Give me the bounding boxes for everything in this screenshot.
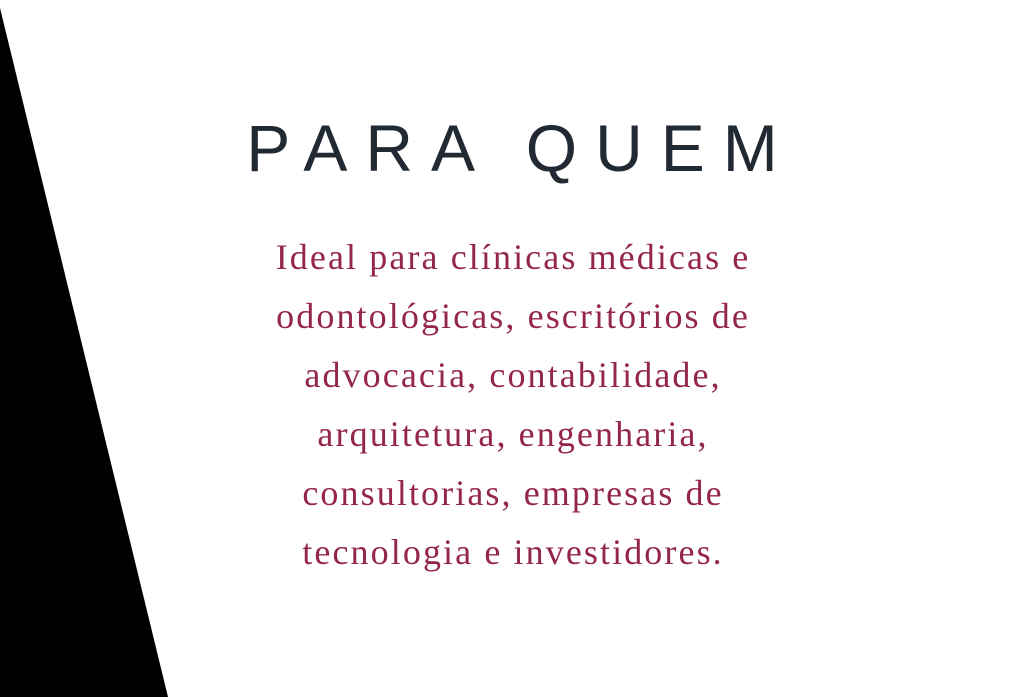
copy-line: odontológicas, escritórios de [162, 287, 862, 346]
copy-line: advocacia, contabilidade, [162, 346, 862, 405]
copy-line: arquitetura, engenharia, [162, 405, 862, 464]
copy-line: Ideal para clínicas médicas e [162, 228, 862, 287]
slide-canvas: PARA QUEM Ideal para clínicas médicas e … [0, 0, 1024, 697]
copy-line: tecnologia e investidores. [162, 523, 862, 582]
copy-line: consultorias, empresas de [162, 464, 862, 523]
body-copy: Ideal para clínicas médicas e odontológi… [162, 228, 862, 582]
content-column: PARA QUEM Ideal para clínicas médicas e … [0, 0, 1024, 697]
page-title: PARA QUEM [228, 113, 796, 183]
